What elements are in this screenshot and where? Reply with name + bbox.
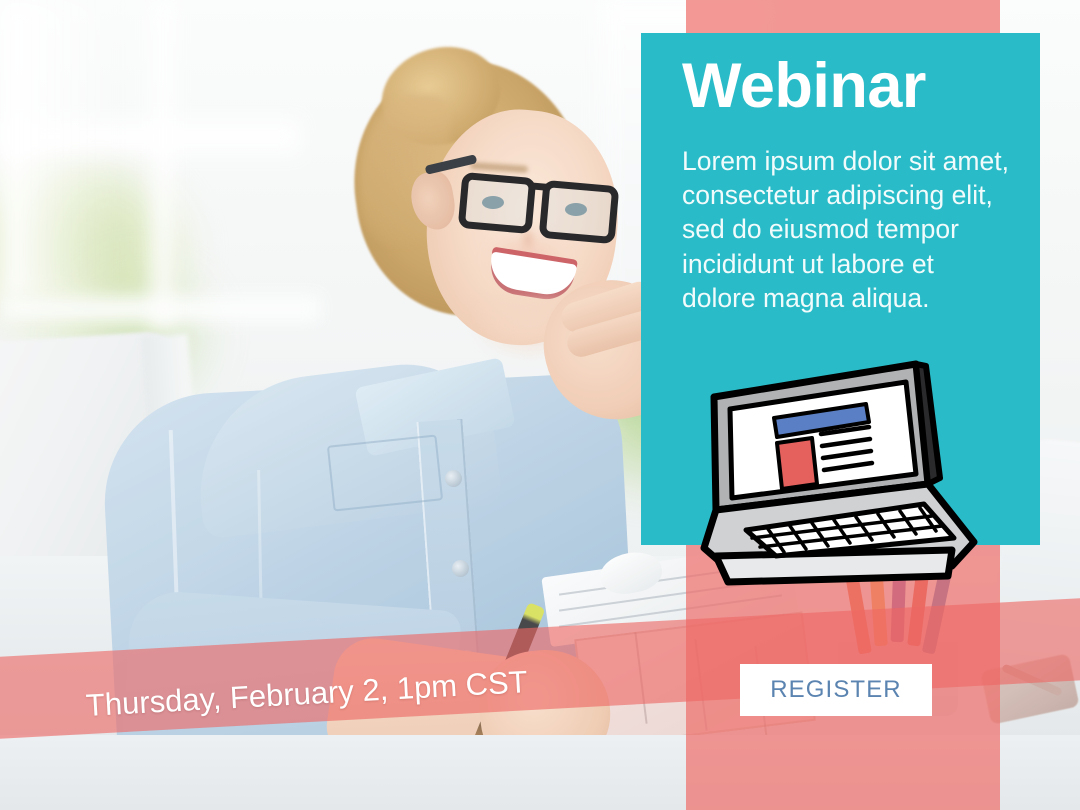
laptop-illustration	[690, 352, 990, 602]
webinar-poster: Webinar Lorem ipsum dolor sit amet, cons…	[0, 0, 1080, 810]
description-text: Lorem ipsum dolor sit amet, consectetur …	[682, 144, 1012, 315]
page-title: Webinar	[682, 55, 926, 118]
register-button[interactable]: REGISTER	[740, 664, 932, 716]
